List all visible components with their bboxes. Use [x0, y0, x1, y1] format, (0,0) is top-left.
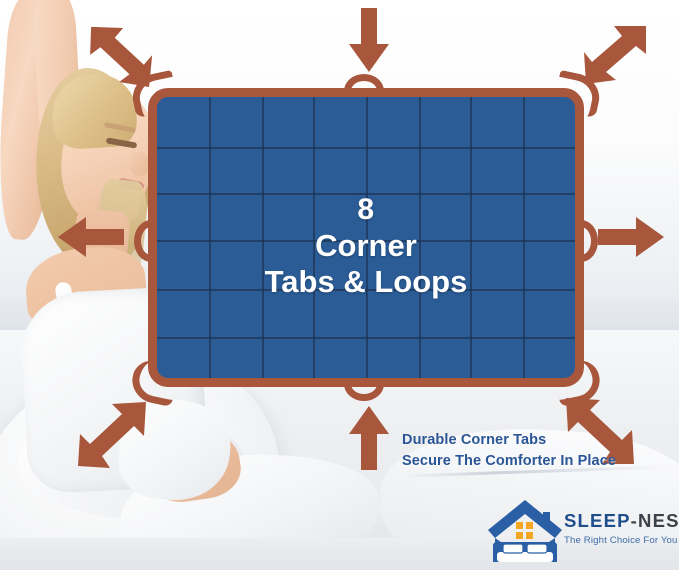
- quilt-stitch-vertical: [262, 97, 264, 378]
- brand-name-part1: SLEEP: [564, 510, 631, 531]
- arrow-top-center: [348, 8, 390, 74]
- arrow-bottom-left: [74, 394, 150, 470]
- quilt-stitch-horizontal: [157, 289, 575, 291]
- quilt-stitch-vertical: [313, 97, 315, 378]
- quilt-stitch-vertical: [366, 97, 368, 378]
- quilt-stitch-vertical: [470, 97, 472, 378]
- quilt-stitch-vertical: [209, 97, 211, 378]
- product-marketing-image: 8 Corner Tabs & Loops: [0, 0, 679, 570]
- tagline-line-2: Secure The Comforter In Place: [402, 451, 664, 472]
- tagline-text: Durable Corner Tabs Secure The Comforter…: [402, 430, 664, 472]
- quilt-stitch-horizontal: [157, 240, 575, 242]
- brand-name-part2: NEST: [638, 510, 679, 531]
- brand-wordmark: SLEEP-NEST The Right Choice For You: [564, 512, 676, 546]
- brand-logo: SLEEP-NEST The Right Choice For You: [486, 498, 676, 564]
- quilt-stitch-horizontal: [157, 337, 575, 339]
- quilt-stitch-horizontal: [157, 147, 575, 149]
- comforter-diagram: 8 Corner Tabs & Loops: [140, 80, 592, 395]
- arrow-top-left: [86, 24, 156, 94]
- quilt-stitch-vertical: [523, 97, 525, 378]
- brand-slogan: The Right Choice For You: [564, 535, 676, 546]
- quilt-stitch-vertical: [419, 97, 421, 378]
- arrow-left-middle: [56, 215, 124, 259]
- comforter-body: 8 Corner Tabs & Loops: [148, 88, 584, 387]
- quilt-stitch-horizontal: [157, 193, 575, 195]
- arrow-right-middle: [598, 215, 666, 259]
- tagline-line-1: Durable Corner Tabs: [402, 430, 664, 451]
- arrow-top-right: [580, 22, 650, 92]
- house-with-bed-icon: [486, 498, 564, 564]
- brand-name-separator: -: [631, 510, 638, 531]
- brand-name: SLEEP-NEST: [564, 512, 676, 531]
- arrow-bottom-center: [348, 404, 390, 470]
